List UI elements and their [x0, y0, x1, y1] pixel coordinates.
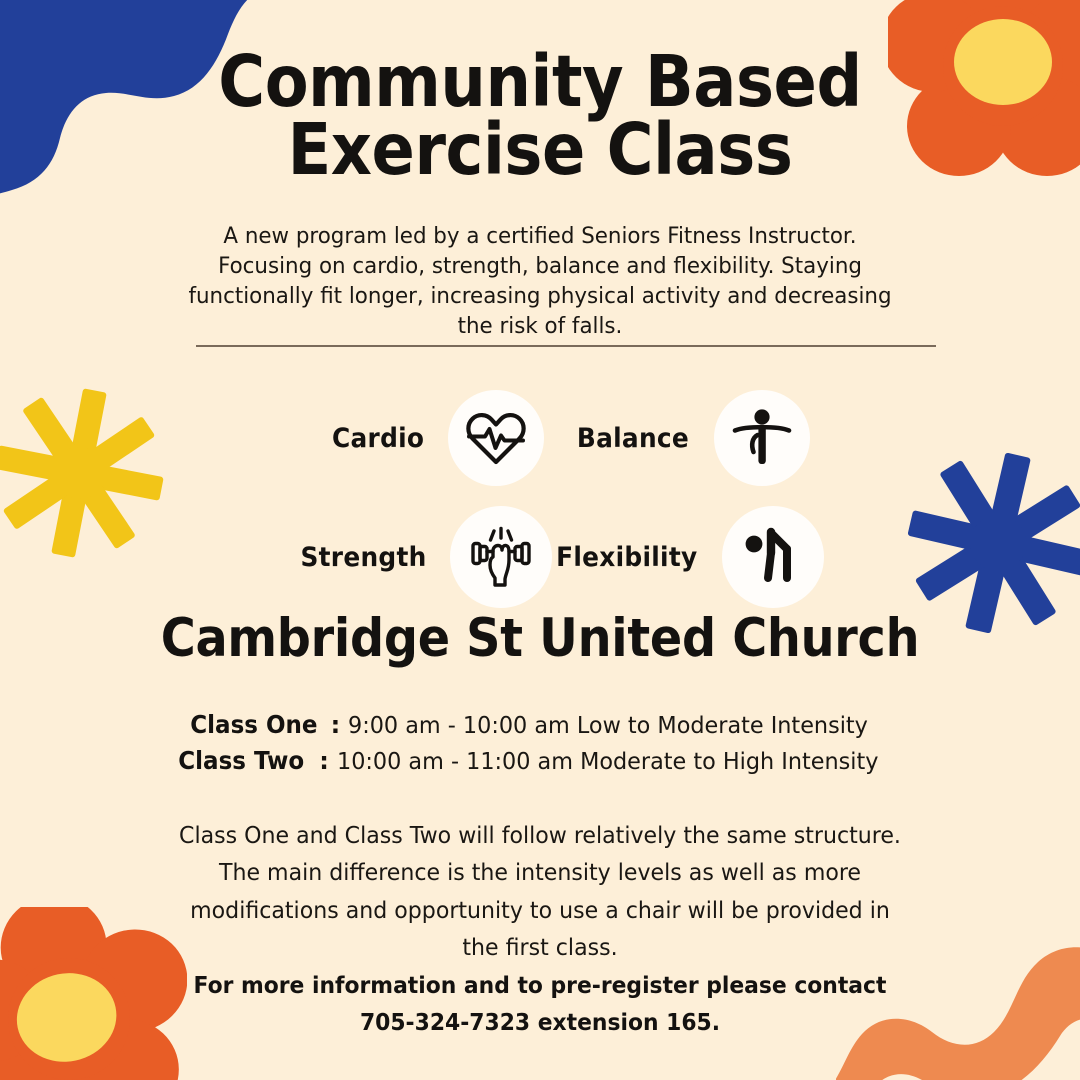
class-time-two: 10:00 am - 11:00 am Moderate to High Int… — [337, 747, 878, 775]
poster-canvas: Community Based Exercise Class A new pro… — [0, 0, 1080, 1080]
feature-icon-circle-strength — [450, 506, 552, 608]
feature-label-strength: Strength — [300, 542, 426, 573]
balancing-figure-icon — [731, 407, 793, 469]
class-name-one: Class One — [190, 710, 311, 739]
class-schedule-row: Class One : 9:00 am - 10:00 am Low to Mo… — [0, 710, 1080, 739]
heart-pulse-icon — [466, 409, 526, 467]
feature-icon-circle-cardio — [448, 390, 544, 486]
class-name-two: Class Two — [179, 746, 300, 775]
feature-balance: Balance — [572, 390, 810, 486]
class-separator-two: : — [305, 747, 337, 775]
poster-title-line-1: Community Based — [54, 48, 1026, 116]
feature-label-cardio: Cardio — [332, 423, 424, 454]
contact-info: For more information and to pre-register… — [141, 968, 939, 1042]
poster-title-line-2: Exercise Class — [54, 116, 1026, 184]
contact-phone: 705-324-7323 extension 165. — [141, 1005, 939, 1042]
feature-strength: Strength — [295, 506, 552, 608]
class-separator-one: : — [317, 711, 349, 739]
contact-instruction: For more information and to pre-register… — [141, 968, 939, 1005]
hand-dumbbell-icon — [468, 525, 534, 589]
venue-name: Cambridge St United Church — [54, 608, 1026, 669]
class-schedule-row: Class Two : 10:00 am - 11:00 am Moderate… — [0, 746, 1080, 775]
feature-cardio: Cardio — [328, 390, 544, 486]
poster-title: Community Based Exercise Class — [54, 48, 1026, 184]
feature-label-balance: Balance — [577, 423, 689, 454]
feature-icon-circle-flexibility — [722, 506, 824, 608]
feature-icon-grid: Cardio Balance — [0, 378, 1080, 593]
class-structure-note: Class One and Class Two will follow rela… — [175, 818, 905, 967]
feature-icon-circle-balance — [714, 390, 810, 486]
feature-flexibility: Flexibility — [550, 506, 824, 608]
feature-label-flexibility: Flexibility — [556, 542, 697, 573]
header-divider — [196, 345, 936, 347]
class-time-one: 9:00 am - 10:00 am Low to Moderate Inten… — [348, 711, 868, 739]
stretching-figure-icon — [742, 526, 804, 588]
class-schedule-list: Class One : 9:00 am - 10:00 am Low to Mo… — [0, 710, 1080, 782]
poster-subtitle: A new program led by a certified Seniors… — [179, 222, 901, 342]
